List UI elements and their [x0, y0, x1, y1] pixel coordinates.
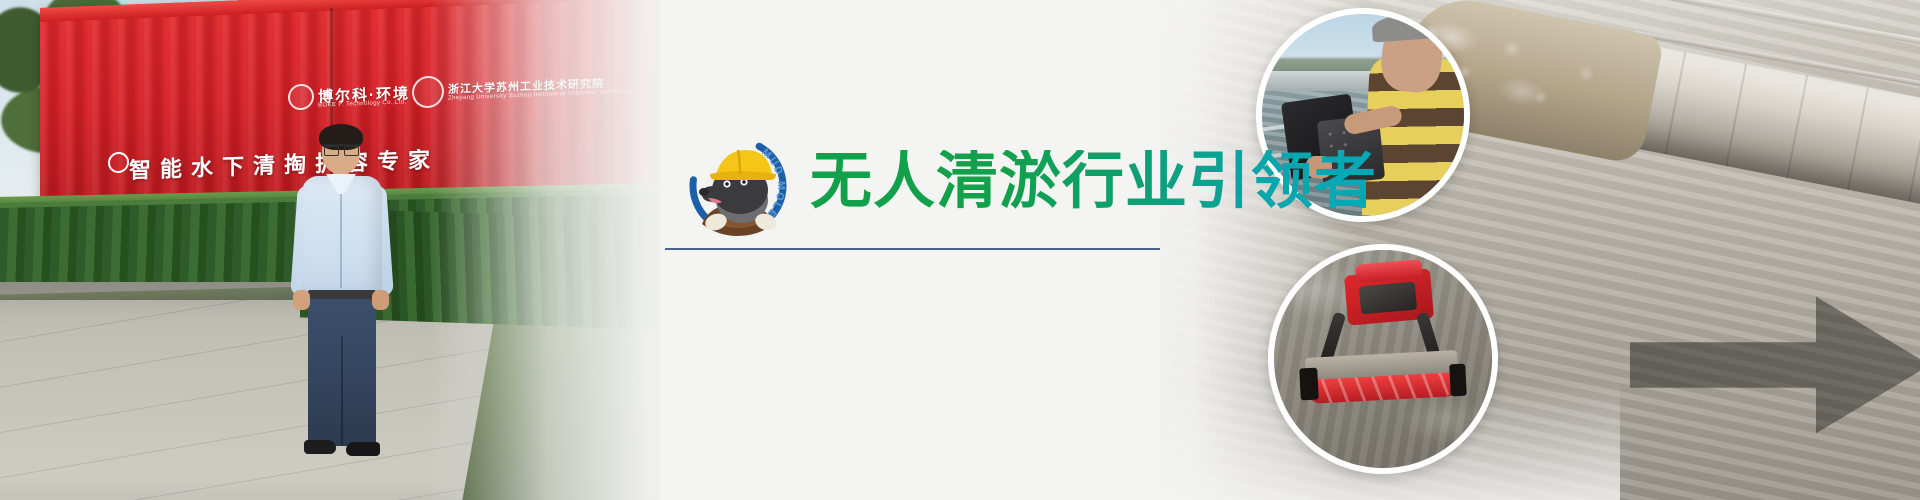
shoe-right [346, 442, 380, 456]
divider [665, 248, 1160, 250]
shoe-left [304, 440, 336, 454]
mud-mole-logo: MUD MOLE [680, 128, 796, 244]
center-content: MUD MOLE 无人清淤行业引领者 [640, 0, 1300, 500]
engineer-figure [288, 128, 396, 458]
hero-banner: 博尔科·环境 BOKE P. Technology Co.,Ltd. 浙江大学苏… [0, 0, 1920, 500]
shirt [302, 176, 382, 296]
robot-equipment [1359, 282, 1417, 315]
paving-joints [0, 300, 498, 500]
hand-right [372, 290, 389, 310]
headline: 无人清淤行业引领者 [810, 150, 1377, 212]
belt [308, 290, 376, 299]
auger-end-right [1449, 364, 1467, 397]
trousers [308, 296, 376, 446]
shirt-placket [340, 184, 342, 288]
glasses-icon [324, 144, 359, 154]
hand-left [293, 290, 310, 310]
auger-end-left [1299, 368, 1319, 401]
dredging-robot-photo [1268, 244, 1498, 474]
